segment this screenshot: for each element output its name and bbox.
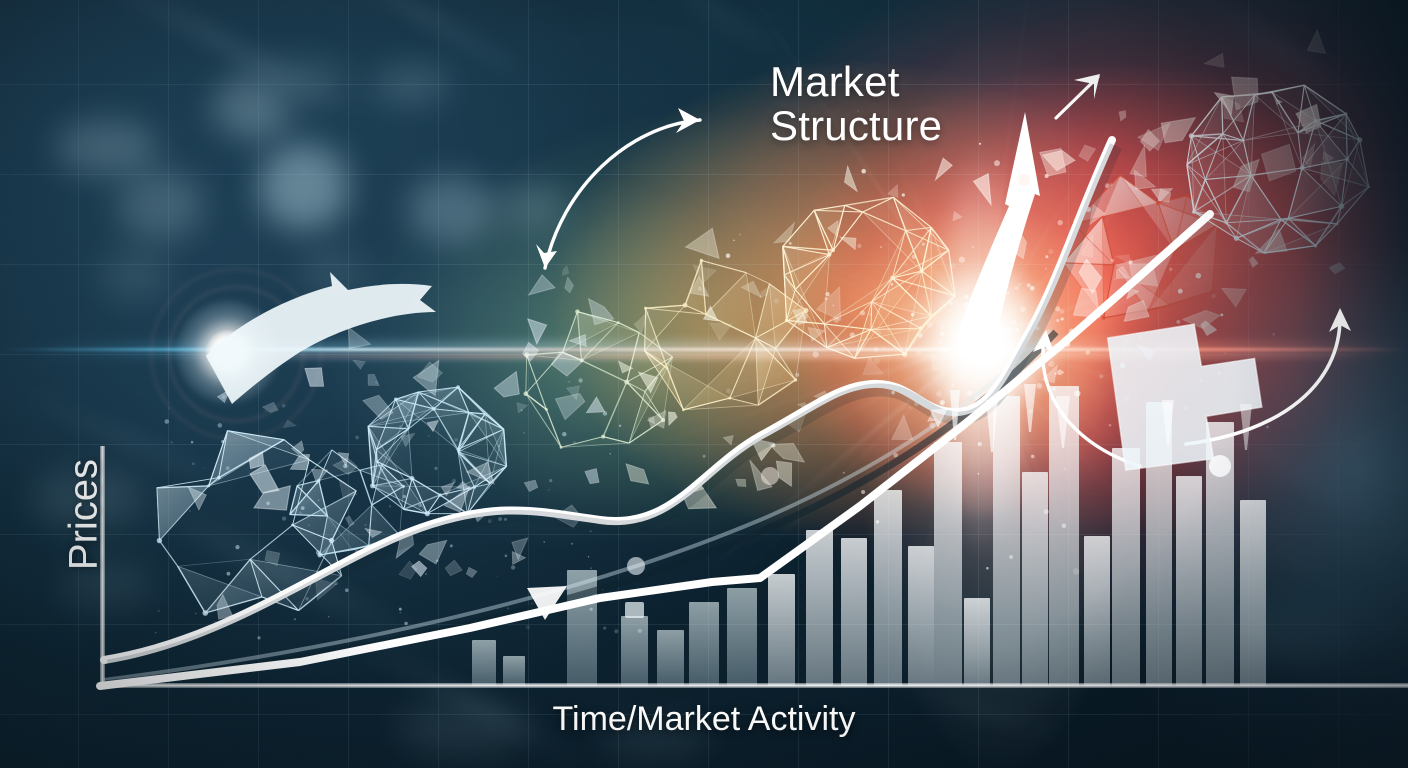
debris-speck	[825, 292, 829, 296]
glass-shard	[521, 341, 539, 361]
debris-speck	[191, 441, 194, 444]
debris-speck	[1129, 260, 1133, 264]
wireframe-sphere-grey-topright	[1187, 85, 1370, 253]
debris-speck	[218, 423, 223, 428]
needle-markers	[950, 384, 1252, 452]
glass-shard	[927, 412, 938, 422]
glass-shard	[578, 297, 616, 332]
glass-shard	[1329, 262, 1345, 274]
glass-shard	[741, 280, 763, 304]
flare-ray	[969, 341, 981, 495]
glass-shard	[444, 481, 476, 516]
debris-speck	[619, 425, 621, 427]
debris-speck	[158, 610, 160, 612]
debris-speck	[526, 625, 530, 629]
glass-shard	[1222, 278, 1252, 309]
debris-speck	[1016, 335, 1018, 337]
curved-arrow-left-lower	[1033, 330, 1140, 466]
wireframe-sphere-gold-b	[783, 197, 955, 358]
debris-speck	[959, 257, 965, 263]
debris-speck	[1006, 384, 1009, 387]
flare-ray	[980, 340, 1175, 353]
glass-shard	[549, 346, 587, 379]
debris-speck	[952, 333, 956, 337]
debris-speck	[857, 244, 861, 248]
bar	[993, 396, 1020, 686]
glass-shard	[1138, 113, 1176, 152]
wireframe-sphere-teal-mid	[368, 385, 506, 516]
glass-shard	[582, 397, 605, 420]
flare-ray	[979, 189, 1061, 342]
debris-speck	[1120, 363, 1125, 368]
debris-speck	[169, 407, 171, 409]
bar	[689, 602, 719, 686]
debris-speck	[1314, 407, 1315, 408]
horizontal-lens-streak	[0, 0, 1408, 768]
glass-shard	[687, 258, 716, 286]
glass-shard	[415, 360, 444, 384]
debris-speck	[869, 313, 872, 316]
debris-speck	[930, 290, 931, 291]
debris-speck	[334, 582, 337, 585]
debris-speck	[874, 347, 879, 352]
flare-ray	[979, 340, 1152, 720]
flare-ray	[979, 340, 1051, 421]
debris-speck	[299, 512, 302, 515]
bar	[1146, 402, 1172, 686]
bokeh-blob	[1312, 430, 1408, 504]
debris-speck	[990, 343, 994, 347]
debris-speck	[1018, 283, 1021, 286]
debris-speck	[927, 321, 933, 327]
bokeh-blob	[372, 66, 450, 104]
debris-speck	[282, 517, 286, 521]
glass-shard	[334, 448, 352, 466]
bar	[908, 546, 934, 686]
bar	[964, 598, 990, 686]
debris-speck	[549, 479, 552, 482]
debris-speck	[265, 410, 267, 412]
bar	[1176, 476, 1202, 686]
debris-speck	[573, 441, 577, 445]
debris-speck	[1016, 359, 1022, 365]
debris-speck	[328, 616, 329, 617]
glass-shard	[1115, 254, 1132, 265]
glass-shard	[925, 350, 949, 375]
debris-speck	[1099, 374, 1103, 378]
bar	[1240, 500, 1266, 686]
debris-speck	[1016, 328, 1019, 331]
glass-shard	[250, 479, 300, 525]
glass-shard	[887, 183, 900, 198]
light-streak	[7, 378, 253, 504]
debris-speck	[450, 544, 453, 547]
glass-shard	[1301, 30, 1329, 61]
debris-speck	[850, 332, 855, 337]
glass-shard	[287, 450, 317, 478]
bar	[1084, 536, 1110, 686]
debris-speck	[1225, 353, 1226, 354]
debris-speck	[733, 240, 735, 242]
glass-shard	[1198, 320, 1218, 338]
debris-speck	[975, 347, 976, 348]
glass-shard	[281, 418, 296, 433]
chevron-banner-left	[206, 272, 436, 404]
flare-ray	[980, 40, 1164, 341]
debris-speck	[1056, 319, 1059, 322]
debris-speck	[979, 143, 981, 145]
glass-shard	[513, 401, 528, 416]
light-streak	[341, 626, 599, 768]
flare-ray	[973, 341, 981, 502]
lens-flare-left	[0, 0, 1408, 768]
glass-shard	[973, 294, 987, 309]
debris-speck	[991, 295, 995, 299]
glass-shard	[1083, 202, 1106, 225]
debris-speck	[571, 543, 573, 545]
glass-shard	[411, 560, 428, 577]
glass-shard	[493, 366, 529, 403]
debris-speck	[192, 462, 195, 465]
debris-speck	[876, 520, 879, 523]
glass-shard	[582, 466, 603, 487]
glass-shard	[523, 273, 555, 302]
bar	[503, 656, 525, 686]
debris-speck	[945, 353, 948, 356]
glass-shard	[804, 325, 825, 344]
glass-shards-layer	[0, 0, 1408, 768]
bar	[1049, 386, 1079, 686]
debris-speck	[523, 432, 525, 434]
glass-shard	[549, 385, 587, 424]
debris-speck	[507, 607, 509, 609]
glass-shard	[744, 456, 772, 493]
glass-shard	[1153, 103, 1197, 150]
glass-shard	[733, 474, 749, 490]
bar	[1112, 448, 1140, 686]
glass-shard	[1299, 141, 1321, 169]
debris-speck	[602, 589, 604, 591]
debris-speck	[992, 411, 993, 412]
glass-shard	[350, 356, 365, 370]
bar	[841, 538, 867, 686]
debris-speck	[1015, 286, 1019, 290]
debris-speck	[981, 359, 986, 364]
debris-speck	[922, 243, 925, 246]
debris-speck	[399, 425, 400, 426]
glass-shard	[411, 354, 451, 396]
bar	[727, 588, 757, 686]
debris-speck	[972, 329, 975, 332]
glass-shard	[365, 526, 383, 539]
glass-shard	[813, 390, 830, 405]
debris-speck	[404, 622, 407, 625]
debris-speck	[929, 422, 935, 428]
glass-shard	[214, 594, 237, 623]
debris-speck	[972, 246, 974, 248]
glass-shard	[678, 477, 722, 517]
debris-speck	[703, 455, 706, 458]
arrow-up-big-white	[957, 112, 1040, 340]
bar	[934, 442, 962, 686]
vignette-overlay	[0, 0, 1408, 768]
flare-ray	[979, 341, 1036, 544]
debris-speck	[882, 346, 885, 349]
flare-ray	[979, 80, 1252, 341]
debris-speck	[355, 436, 359, 440]
debris-speck	[345, 588, 349, 592]
debris-speck	[257, 636, 260, 639]
debris-speck	[603, 627, 606, 630]
flare-ray	[979, 0, 1042, 341]
debris-speck	[1266, 426, 1269, 429]
flare-ray	[979, 340, 1131, 411]
debris-speck	[1064, 341, 1070, 347]
arrows-layer	[0, 0, 1408, 768]
glass-shard	[1182, 309, 1221, 331]
debris-speck	[590, 608, 593, 611]
debris-speck	[939, 342, 941, 344]
debris-speck	[588, 556, 589, 557]
debris-speck	[504, 518, 507, 521]
background-light-streaks	[0, 0, 1408, 768]
debris-speck	[979, 358, 981, 360]
debris-speck	[1196, 273, 1202, 279]
glass-shard	[1276, 99, 1283, 105]
triangle-marker-left	[527, 586, 567, 620]
bar	[472, 640, 496, 686]
glass-shard	[1115, 330, 1140, 354]
debris-speck	[914, 401, 919, 406]
debris-speck	[1220, 313, 1223, 316]
wireframe-cluster-blue-left-b	[290, 450, 405, 557]
flare-ray	[687, 340, 980, 495]
debris-speck	[1073, 568, 1079, 574]
debris-speck	[964, 302, 970, 308]
glass-shard	[701, 305, 718, 325]
debris-speck	[590, 530, 592, 532]
debris-speck	[952, 384, 955, 387]
glass-shard	[393, 525, 419, 562]
glass-shard	[466, 462, 494, 489]
flare-ray	[980, 340, 1345, 443]
light-streak	[313, 0, 547, 92]
glass-shard	[506, 549, 526, 568]
debris-speck	[1007, 292, 1010, 295]
glass-shard	[1115, 108, 1129, 122]
debris-speck	[972, 345, 975, 348]
flare-ray	[980, 340, 1206, 437]
glass-shard	[1113, 264, 1133, 283]
bokeh-blob	[500, 182, 564, 230]
trend-curves-layer	[0, 0, 1408, 768]
wireframe-cluster-blue-left	[157, 431, 357, 616]
glass-shard	[1153, 185, 1175, 207]
glass-shard	[363, 371, 383, 391]
glass-shard	[1130, 165, 1156, 193]
debris-speck	[578, 378, 582, 382]
chart-axes	[0, 0, 1408, 768]
debris-speck	[614, 629, 618, 633]
debris-speck	[891, 283, 893, 285]
debris-speck	[1044, 509, 1049, 514]
debris-speck	[418, 504, 421, 507]
debris-speck	[997, 334, 1001, 338]
debris-speck	[1054, 373, 1056, 375]
bokeh-blob	[210, 84, 272, 136]
trend-curve-baseline-dark	[104, 332, 1056, 684]
debris-speck	[155, 632, 157, 634]
debris-speck	[562, 432, 566, 436]
glass-shard	[1075, 141, 1099, 164]
node-dots	[627, 174, 1231, 575]
debris-speck	[226, 466, 230, 470]
debris-speck	[454, 438, 458, 442]
glass-shard	[339, 323, 371, 356]
chevron-arrow-down-left	[1071, 300, 1280, 504]
debris-speck	[861, 490, 865, 494]
debris-speck	[318, 499, 320, 501]
debris-speck	[909, 407, 911, 409]
debris-speck	[548, 489, 549, 490]
flare-ray	[871, 159, 981, 342]
glass-shard	[425, 417, 439, 432]
debris-speck	[916, 350, 922, 356]
glass-shard	[1252, 229, 1292, 266]
debris-speck	[185, 635, 188, 638]
debris-speck	[1020, 307, 1026, 313]
debris-speck	[1124, 396, 1130, 402]
debris-speck	[1031, 455, 1035, 459]
glass-shard	[1039, 144, 1077, 175]
glass-shard	[647, 410, 666, 428]
debris-speck	[400, 612, 401, 613]
glass-shard	[758, 285, 771, 301]
glass-shard	[1139, 128, 1161, 153]
debris-speck	[950, 263, 956, 269]
debris-speck	[1200, 379, 1203, 382]
debris-speck	[813, 351, 819, 357]
debris-speck	[1139, 335, 1142, 338]
debris-speck	[389, 505, 391, 507]
burst-flare-center	[0, 0, 1408, 768]
debris-speck	[590, 516, 594, 520]
debris-speck	[544, 541, 545, 542]
flare-ray	[547, 340, 981, 479]
x-axis-line	[100, 683, 1408, 688]
light-streak	[131, 489, 439, 657]
triangle-marker-small-a	[930, 408, 948, 428]
glass-shard	[1254, 137, 1303, 188]
glass-shard	[1218, 65, 1270, 117]
debris-speck	[603, 411, 607, 415]
debris-speck	[1015, 209, 1021, 215]
debris-speck	[891, 391, 895, 395]
debris-speck	[1027, 283, 1031, 287]
debris-speck	[1169, 268, 1173, 272]
bokeh-blob	[118, 170, 202, 240]
debris-speck	[739, 234, 741, 236]
debris-speck	[911, 313, 915, 317]
background-grid	[0, 0, 1408, 768]
glass-shard	[306, 573, 336, 604]
debris-speck	[519, 507, 522, 510]
debris-speck	[995, 310, 1000, 315]
flare-ray	[773, 340, 980, 414]
debris-speck	[322, 539, 323, 540]
debris-speck	[795, 373, 799, 377]
debris-speck	[955, 362, 957, 364]
glass-shard	[510, 537, 527, 561]
debris-speck	[964, 295, 968, 299]
debris-speck	[505, 555, 508, 558]
glass-shard	[705, 315, 733, 342]
flare-ray	[979, 340, 1123, 502]
debris-speck	[1062, 524, 1067, 529]
bokeh-blob	[408, 176, 494, 242]
debris-speck	[1030, 286, 1035, 291]
debris-speck	[912, 255, 916, 259]
flare-ray	[980, 225, 1406, 342]
debris-speck	[485, 480, 487, 482]
glass-shard	[1009, 230, 1027, 258]
debris-speck	[590, 567, 592, 569]
flare-ray	[626, 340, 980, 401]
debris-speck	[1086, 207, 1091, 212]
debris-speck	[970, 312, 971, 313]
debris-speck	[1035, 326, 1039, 330]
flare-ray	[901, 341, 981, 464]
bokeh-blob	[212, 86, 278, 126]
debris-speck	[875, 330, 881, 336]
debris-speck	[860, 311, 865, 316]
glass-shard	[797, 400, 811, 415]
debris-speck	[189, 510, 191, 512]
debris-speck	[832, 305, 834, 307]
glass-shard	[456, 481, 472, 496]
flare-ray	[710, 340, 980, 579]
debris-speck	[843, 472, 845, 474]
debris-speck	[834, 317, 840, 323]
glass-shard	[262, 402, 278, 413]
flare-ray	[980, 328, 1358, 341]
debris-speck	[978, 442, 982, 446]
debris-speck	[569, 381, 570, 382]
debris-speck	[978, 352, 980, 354]
debris-speck	[511, 565, 515, 569]
debris-speck	[726, 253, 731, 258]
light-streak	[1256, 529, 1408, 693]
debris-speck	[970, 329, 974, 333]
debris-speck	[434, 467, 437, 470]
glass-shard	[1122, 296, 1154, 330]
debris-speck	[1037, 383, 1042, 388]
trend-curve-upper-shadow	[108, 146, 1116, 666]
debris-speck	[974, 395, 980, 401]
debris-speck	[521, 409, 523, 411]
glass-shard	[441, 482, 457, 496]
flare-ray	[980, 239, 1261, 342]
flare-ray	[817, 251, 980, 343]
glass-shard	[1031, 140, 1075, 183]
glass-shard	[633, 367, 660, 393]
flare-rays	[0, 0, 1408, 768]
debris-speck	[1064, 468, 1067, 471]
glass-shard	[953, 211, 963, 222]
debris-speck	[324, 550, 327, 553]
glass-shard	[886, 415, 921, 450]
title-line-2: Structure	[770, 104, 942, 148]
